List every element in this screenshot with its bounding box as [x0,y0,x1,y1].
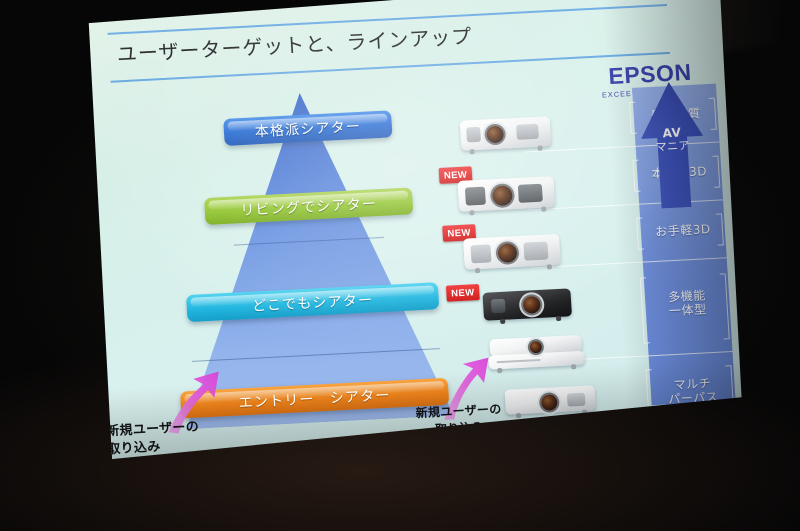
slide-surface: ユーザーターゲットと、ラインアップ EPSON EXCEED YOUR VISI… [84,0,747,459]
callout-right: 新規ユーザーの 取り込み [415,401,503,439]
tier-bar-1-label: 本格派シアター [254,115,362,140]
av-enthusiast-label: AV マニア [640,124,704,155]
photo-of-projected-slide: ユーザーターゲットと、ラインアップ EPSON EXCEED YOUR VISI… [0,0,800,531]
new-badge-3: NEW [446,284,480,302]
projector-image-5 [485,331,587,378]
projector-image-2 [453,170,560,221]
projection-screen: ユーザーターゲットと、ラインアップ EPSON EXCEED YOUR VISI… [84,0,748,467]
tier-bar-3-label: どこでもシアター [252,289,374,315]
category-label-5: マルチ パーパス [656,375,730,407]
tier-bar-4-label: エントリー シアター [238,384,391,412]
tier-bar-2-label: リビングでシアター [240,193,378,220]
category-label-4: 多機能 一体型 [651,287,725,319]
projector-image-6 [500,380,600,425]
projector-image-1 [455,110,556,159]
projector-image-3 [459,228,566,279]
projector-image-4 [478,283,576,330]
callout-left: 新規ユーザーの 取り込み [106,419,201,460]
